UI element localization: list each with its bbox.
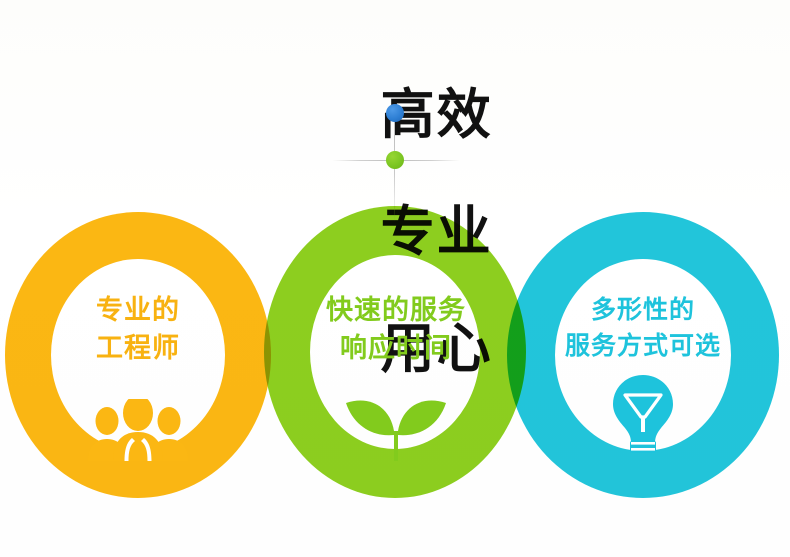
sprout-plant-icon	[340, 387, 452, 461]
circle-2-icon-box	[305, 375, 487, 461]
circle-content-service-options[interactable]: 多形性的 服务方式可选	[540, 292, 746, 455]
circle-2-line-1: 快速的服务	[305, 292, 487, 330]
circle-2-line-2: 响应时间	[305, 330, 487, 368]
three-people-icon	[86, 399, 190, 461]
circle-3-line-1: 多形性的	[540, 292, 746, 328]
infographic-canvas: 高效 专业 用心 专业的 工程师	[0, 0, 790, 557]
lightbulb-icon	[607, 373, 679, 455]
venn-rings-group	[0, 0, 790, 557]
circle-1-icon-box	[48, 375, 228, 461]
circle-3-line-2: 服务方式可选	[540, 328, 746, 364]
circle-3-icon-box	[540, 369, 746, 455]
circle-1-line-1: 专业的	[48, 292, 228, 330]
circle-1-line-2: 工程师	[48, 330, 228, 368]
circle-content-engineers[interactable]: 专业的 工程师	[48, 292, 228, 461]
circle-content-response-time[interactable]: 快速的服务 响应时间	[305, 292, 487, 461]
